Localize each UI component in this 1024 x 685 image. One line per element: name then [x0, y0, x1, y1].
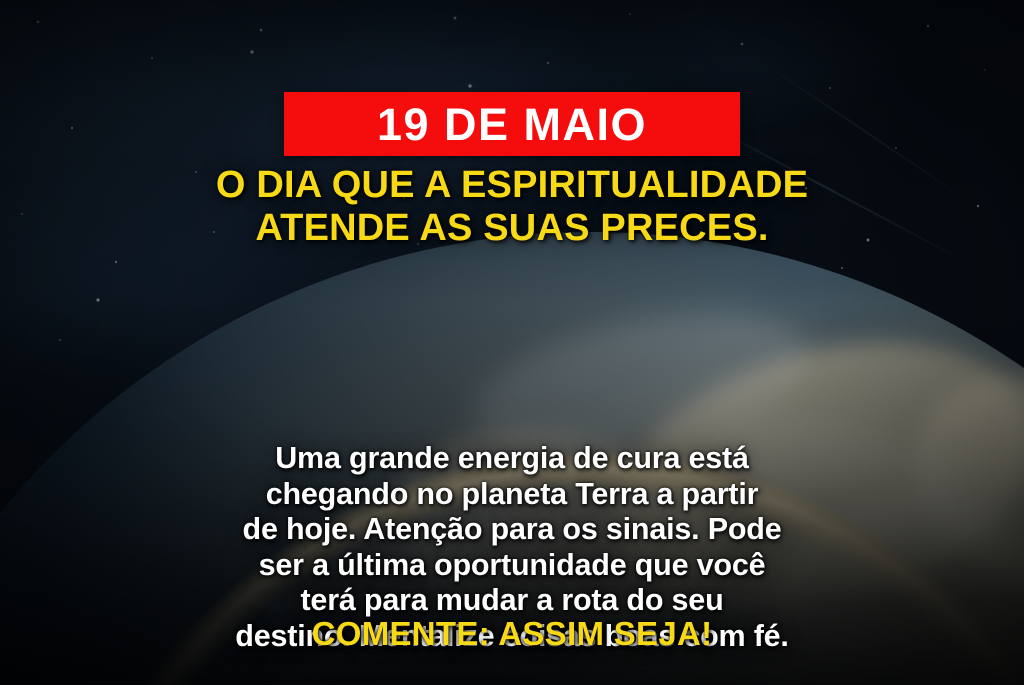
date-banner-label: 19 DE MAIO: [377, 102, 647, 147]
date-banner: 19 DE MAIO: [284, 92, 740, 156]
call-to-action-text: COMENTE: ASSIM SEJA!: [0, 617, 1024, 650]
page-title: O DIA QUE A ESPIRITUALIDADE ATENDE AS SU…: [0, 164, 1024, 250]
poster-canvas: 19 DE MAIO O DIA QUE A ESPIRITUALIDADE A…: [0, 0, 1024, 685]
poster-content: 19 DE MAIO O DIA QUE A ESPIRITUALIDADE A…: [0, 0, 1024, 685]
